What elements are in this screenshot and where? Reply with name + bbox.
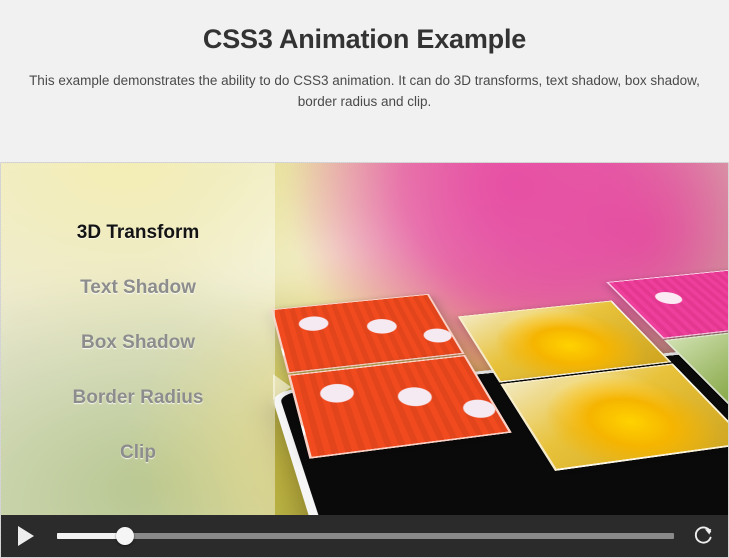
progress-track bbox=[57, 533, 674, 539]
photo-card bbox=[288, 355, 512, 459]
replay-button[interactable] bbox=[690, 523, 716, 549]
photo-card bbox=[500, 363, 729, 471]
page-title: CSS3 Animation Example bbox=[8, 18, 721, 60]
player-control-bar bbox=[1, 515, 729, 557]
menu-item-3d-transform[interactable]: 3D Transform bbox=[1, 205, 275, 260]
animation-demo-panel: 3D Transform Text Shadow Box Shadow Bord… bbox=[0, 162, 729, 558]
demo-menu-panel: 3D Transform Text Shadow Box Shadow Bord… bbox=[1, 163, 275, 515]
replay-icon bbox=[692, 525, 714, 547]
play-icon bbox=[18, 526, 34, 546]
page-description: This example demonstrates the ability to… bbox=[9, 70, 721, 112]
progress-slider[interactable] bbox=[57, 523, 674, 549]
menu-item-clip[interactable]: Clip bbox=[1, 425, 275, 480]
menu-item-border-radius[interactable]: Border Radius bbox=[1, 370, 275, 425]
play-button[interactable] bbox=[13, 523, 39, 549]
demo-menu-list: 3D Transform Text Shadow Box Shadow Bord… bbox=[1, 163, 275, 480]
progress-handle[interactable] bbox=[116, 527, 134, 545]
progress-fill bbox=[57, 533, 125, 539]
menu-item-box-shadow[interactable]: Box Shadow bbox=[1, 315, 275, 370]
page-header: CSS3 Animation Example This example demo… bbox=[0, 0, 729, 112]
triangle-right-icon bbox=[273, 374, 291, 400]
animation-stage: 3D Transform Text Shadow Box Shadow Bord… bbox=[1, 163, 729, 515]
menu-item-text-shadow[interactable]: Text Shadow bbox=[1, 260, 275, 315]
